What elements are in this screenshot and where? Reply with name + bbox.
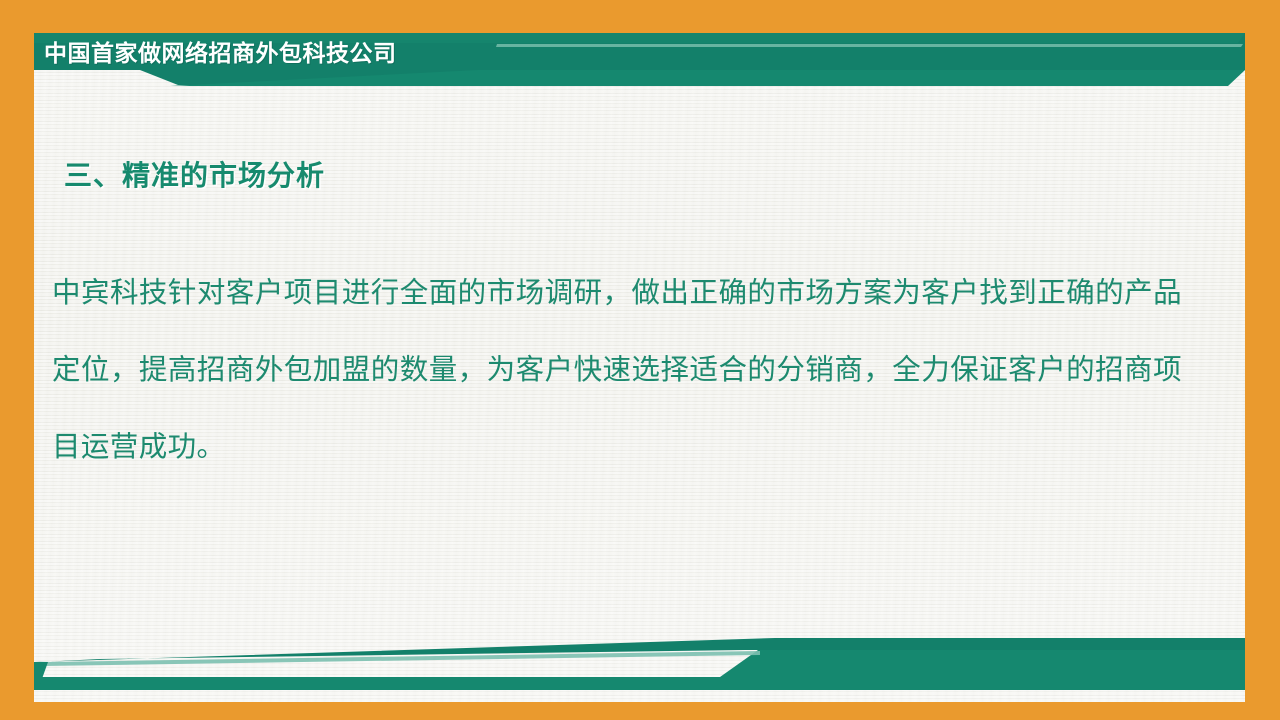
header-band: 中国首家做网络招商外包科技公司 [0,0,1280,110]
frame-left-orange [0,0,34,720]
slide-root: 中国首家做网络招商外包科技公司 三、精准的市场分析 中宾科技针对客户项目进行全面… [0,0,1280,720]
header-hairline-separator [496,44,1243,47]
section-heading: 三、精准的市场分析 [64,154,325,194]
header-title: 中国首家做网络招商外包科技公司 [44,36,397,70]
body-paragraph: 中宾科技针对客户项目进行全面的市场调研，做出正确的市场方案为客户找到正确的产品定… [52,254,1182,485]
frame-bottom-orange [0,702,1280,720]
frame-right-orange [1245,0,1280,720]
